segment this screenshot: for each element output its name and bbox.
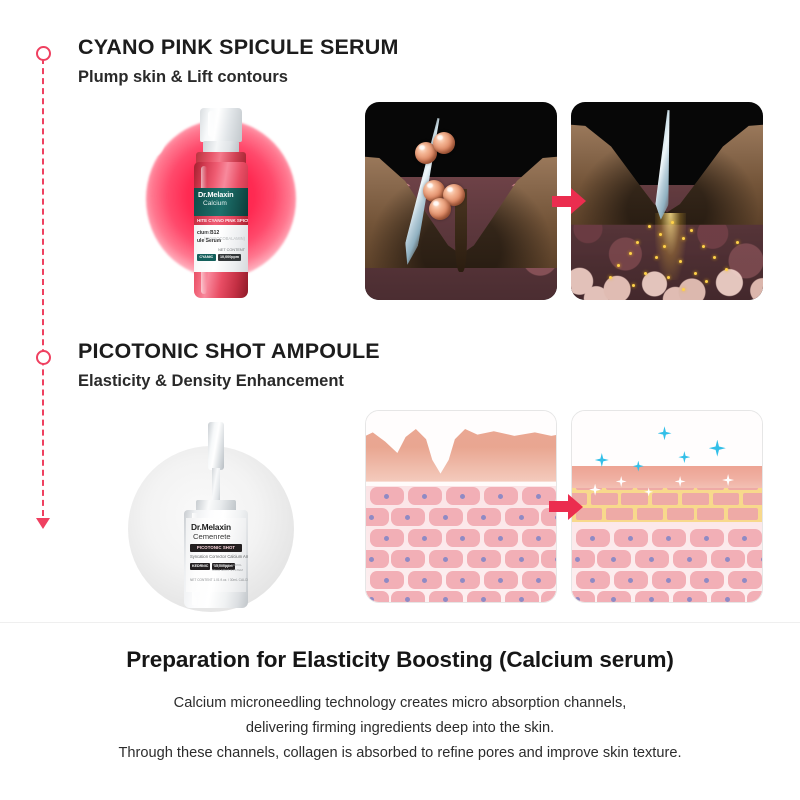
label-chip-2: 10,000ppm	[218, 254, 242, 261]
label-tiny-text: SYNCATION ERROL PICO SHOT SYSTEM	[212, 563, 243, 572]
step-1-marker-icon	[36, 46, 51, 61]
panel-pore-microneedle-after[interactable]	[571, 102, 763, 300]
section-1-transition-arrow-icon	[552, 188, 586, 214]
label-tiny-line-1: SYNCATION ERROL	[212, 563, 243, 568]
glow-highlight-2-icon	[140, 118, 155, 127]
serum-bottle-cyano-pink: Dr.Melaxin Calcium HITE CYANO PINK SPICU…	[188, 108, 254, 300]
label-right-line-2: (CYANOCOBALAMIN)	[204, 236, 245, 242]
ampoule-bottle-picotonic: Dr.Melaxin Cemenrete PICOTONIC SHOT Sync…	[170, 422, 260, 610]
bottle-body: Dr.Melaxin Calcium HITE CYANO PINK SPICU…	[194, 162, 248, 298]
calcium-bead-icon	[433, 132, 455, 154]
label-brand-band: Dr.Melaxin Calcium	[194, 188, 248, 216]
pore-illustration-before	[365, 102, 557, 300]
label-footer-text: NET CONTENT 1.01 fl.oz. / 30mL CALCIUM C…	[190, 578, 248, 582]
section-cyano-pink-spicule-serum: CYANO PINK SPICULE SERUM Plump skin & Li…	[78, 34, 399, 87]
label-black-banner: PICOTONIC SHOT	[190, 544, 242, 552]
label-red-banner-text: HITE CYANO PINK SPICULE	[197, 218, 248, 223]
section-1-title: CYANO PINK SPICULE SERUM	[78, 34, 399, 61]
section-picotonic-shot-ampoule: PICOTONIC SHOT AMPOULE Elasticity & Dens…	[78, 338, 380, 391]
vertical-timeline	[32, 40, 56, 535]
sparkle-field	[572, 411, 762, 602]
spicule-needle-icon	[431, 117, 445, 120]
label-chip-1: CYANIC	[197, 254, 216, 261]
dropper-cap	[208, 422, 224, 470]
section-2-subtitle: Elasticity & Density Enhancement	[78, 372, 380, 391]
label-right-text: B12 (CYANOCOBALAMIN)	[204, 230, 245, 243]
section-2-panel-row	[365, 410, 763, 603]
label-description: Syncation Corrector Calcium Ampoule	[190, 554, 246, 560]
bottle-body: Dr.Melaxin Cemenrete PICOTONIC SHOT Sync…	[184, 510, 248, 608]
label-product-line: Calcium	[203, 201, 245, 208]
label-netcontent-caption: NET CONTENT	[218, 248, 245, 254]
label-black-banner-text: PICOTONIC SHOT	[190, 545, 242, 550]
label-chip-1: KEDRNIC	[190, 563, 210, 570]
footer-body: Calcium microneedling technology creates…	[0, 691, 800, 766]
cell-row	[366, 487, 556, 509]
cell-row	[366, 508, 556, 530]
calcium-bead-icon	[429, 198, 451, 220]
footer-line-2: delivering firming ingredients deep into…	[0, 716, 800, 741]
cell-row	[366, 591, 556, 602]
pump-cap	[200, 108, 242, 142]
dropper-rod	[212, 468, 220, 504]
footer-line-1: Calcium microneedling technology creates…	[0, 691, 800, 716]
label-brand-name: Dr.Melaxin	[191, 523, 231, 531]
footer-line-3: Through these channels, collagen is abso…	[0, 741, 800, 766]
skin-illustration-before	[366, 411, 556, 602]
panel-pore-microneedle-before[interactable]	[365, 102, 557, 300]
cell-row	[366, 529, 556, 551]
panel-skin-layers-before[interactable]	[365, 410, 557, 603]
product-image-cyano-pink-serum: Dr.Melaxin Calcium HITE CYANO PINK SPICU…	[110, 100, 340, 310]
timeline-down-arrow-icon	[36, 518, 50, 529]
bottle-label: Dr.Melaxin Calcium HITE CYANO PINK SPICU…	[194, 188, 248, 272]
step-2-marker-icon	[36, 350, 51, 365]
panel-skin-layers-after[interactable]	[571, 410, 763, 603]
footer-title: Preparation for Elasticity Boosting (Cal…	[0, 645, 800, 674]
skin-illustration-after	[572, 411, 762, 602]
footer-divider	[0, 622, 800, 623]
section-1-panel-row	[365, 102, 763, 300]
label-chip-group: CYANIC 10,000ppm	[197, 254, 241, 261]
cell-row	[366, 550, 556, 572]
label-tiny-line-2: PICO SHOT SYSTEM	[212, 568, 243, 573]
label-product-line: Cemenrete	[193, 533, 231, 541]
pore-illustration-after	[571, 102, 763, 300]
product-image-picotonic-ampoule: Dr.Melaxin Cemenrete PICOTONIC SHOT Sync…	[108, 408, 338, 618]
bottle-label: Dr.Melaxin Cemenrete PICOTONIC SHOT Sync…	[186, 518, 246, 592]
label-brand-name: Dr.Melaxin	[198, 191, 245, 198]
epidermis-wrinkled-surface	[366, 424, 556, 481]
footer-block: Preparation for Elasticity Boosting (Cal…	[0, 645, 800, 767]
timeline-dashed-rail	[42, 48, 44, 526]
section-2-transition-arrow-icon	[549, 494, 583, 520]
label-red-banner: HITE CYANO PINK SPICULE	[194, 216, 248, 225]
section-2-title: PICOTONIC SHOT AMPOULE	[78, 338, 380, 365]
section-1-subtitle: Plump skin & Lift contours	[78, 68, 399, 87]
